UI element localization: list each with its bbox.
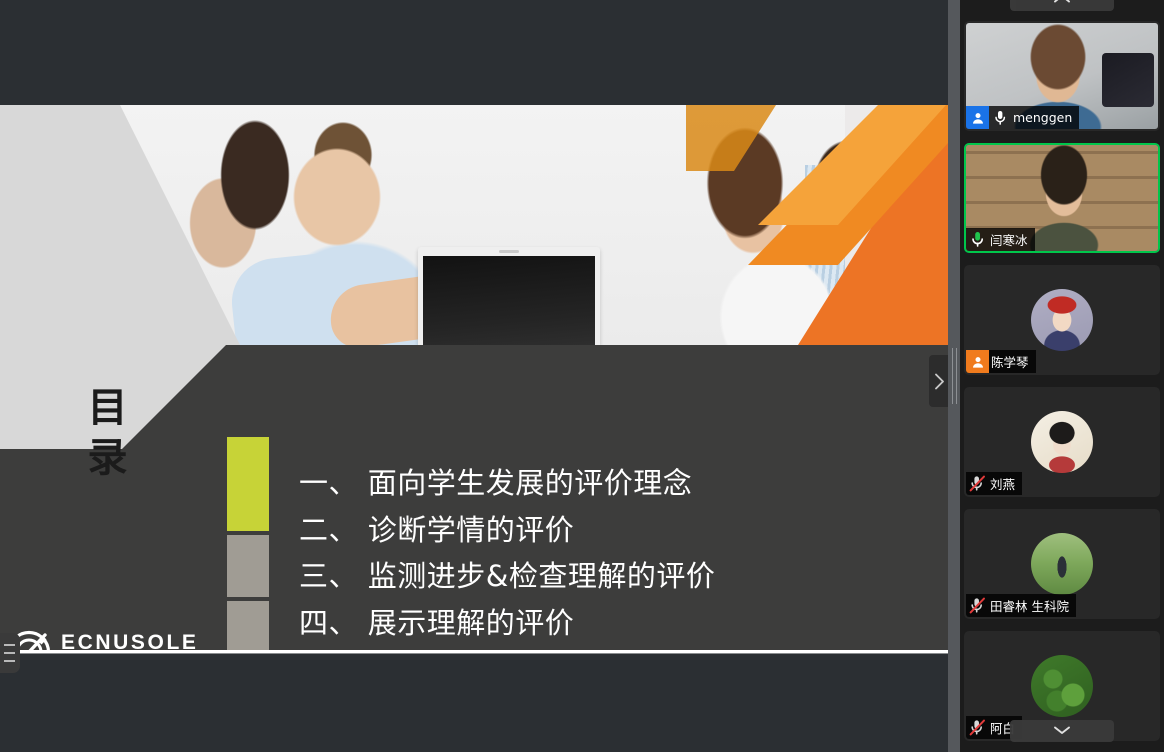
logo-text-block: ECNUSOLE 华东师范大学开放教育学院: [61, 632, 230, 652]
microphone-icon: [989, 106, 1011, 129]
participant-name-bar: 闫寒冰: [966, 228, 1035, 251]
next-slide-button[interactable]: [929, 355, 948, 407]
shared-screen-area: 目 录 一、 面向学生发展的评价理念 二、 诊断学情的评价 三、 监测进步&检查…: [0, 0, 948, 752]
participant-name: 刘燕: [988, 474, 1015, 493]
participants-strip[interactable]: menggen 闫寒冰: [960, 0, 1164, 752]
page-title-char-1: 目: [78, 383, 138, 433]
page-title: 目 录: [78, 383, 138, 483]
toc-item-2: 二、 诊断学情的评价: [299, 507, 899, 554]
microphone-muted-icon: [966, 594, 988, 617]
participant-name: 田睿林 生科院: [988, 596, 1069, 615]
co-host-badge-icon: [966, 350, 989, 373]
participant-tile-chenxueqin[interactable]: 陈学琴: [964, 265, 1160, 375]
avatar: [1031, 533, 1093, 595]
participant-name-bar: menggen: [966, 106, 1079, 129]
chip-inactive-2: [227, 601, 269, 652]
participant-name: 闫寒冰: [988, 230, 1028, 249]
drag-handle-icon: [952, 348, 957, 404]
participant-tile-menggen[interactable]: menggen: [964, 21, 1160, 131]
hamburger-menu-icon-line-1: [4, 644, 15, 646]
avatar: [1031, 289, 1093, 351]
photo-laptop: [418, 247, 600, 345]
toc-chip-column: [227, 437, 269, 652]
share-menu-button[interactable]: [0, 633, 20, 673]
participant-tile-tianruilin[interactable]: 田睿林 生科院: [964, 509, 1160, 619]
slide-header-photo: [0, 105, 948, 345]
microphone-muted-icon: [966, 716, 988, 739]
participant-name-bar: 田睿林 生科院: [966, 594, 1076, 617]
scroll-down-button[interactable]: [1010, 720, 1114, 742]
chevron-down-icon: [1053, 722, 1071, 740]
institution-logo: ECNUSOLE 华东师范大学开放教育学院: [8, 629, 230, 652]
toc-item-1: 一、 面向学生发展的评价理念: [299, 460, 899, 507]
avatar: [1031, 655, 1093, 717]
toc-item-3: 三、 监测进步&检查理解的评价: [299, 553, 899, 600]
host-badge-icon: [966, 106, 989, 129]
scroll-up-button[interactable]: [1010, 0, 1114, 11]
chip-active: [227, 437, 269, 531]
participant-name-bar: 陈学琴: [966, 350, 1036, 373]
microphone-icon-green: [966, 228, 988, 251]
chevron-up-icon: [1053, 0, 1071, 9]
avatar: [1031, 411, 1093, 473]
chevron-right-icon: [934, 373, 945, 390]
panel-resize-handle[interactable]: [948, 0, 960, 752]
page-title-char-2: 录: [78, 433, 138, 483]
hamburger-menu-icon-line-2: [4, 652, 15, 654]
chip-inactive-1: [227, 535, 269, 597]
hamburger-menu-icon-line-3: [4, 660, 15, 662]
conference-window: 目 录 一、 面向学生发展的评价理念 二、 诊断学情的评价 三、 监测进步&检查…: [0, 0, 1164, 752]
logo-text-english: ECNUSOLE: [61, 632, 230, 652]
toc-list: 一、 面向学生发展的评价理念 二、 诊断学情的评价 三、 监测进步&检查理解的评…: [299, 460, 899, 652]
toc-item-4: 四、 展示理解的评价: [299, 600, 899, 647]
presentation-slide[interactable]: 目 录 一、 面向学生发展的评价理念 二、 诊断学情的评价 三、 监测进步&检查…: [0, 105, 948, 652]
slide-bottom-divider: [0, 650, 948, 653]
participant-name-bar: 刘燕: [966, 472, 1022, 495]
participant-name: menggen: [1011, 110, 1072, 125]
participant-tile-liuyan[interactable]: 刘燕: [964, 387, 1160, 497]
microphone-muted-icon: [966, 472, 988, 495]
participant-tile-yanhanbing[interactable]: 闫寒冰: [964, 143, 1160, 253]
participant-name: 陈学琴: [989, 352, 1029, 371]
